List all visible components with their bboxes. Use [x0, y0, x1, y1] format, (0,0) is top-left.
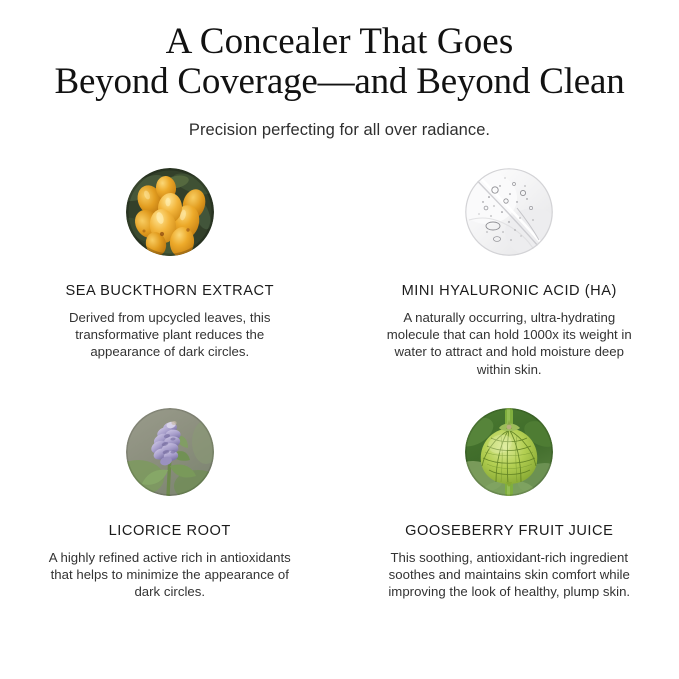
ingredient-description: This soothing, antioxidant-rich ingredie… — [383, 540, 635, 601]
ingredient-benefits-page: A Concealer That Goes Beyond Coverage—an… — [0, 0, 679, 679]
page-subtitle: Precision perfecting for all over radian… — [0, 102, 679, 140]
ingredient-thumbnail-wrap — [340, 408, 679, 504]
page-title-line-2: Beyond Coverage—and Beyond Clean — [0, 62, 679, 102]
ingredient-description: A naturally occurring, ultra-hydrating m… — [383, 300, 635, 378]
ingredient-card-gooseberry-fruit-juice: GOOSEBERRY FRUIT JUICE This soothing, an… — [340, 408, 679, 601]
page-title: A Concealer That Goes Beyond Coverage—an… — [0, 22, 679, 102]
ingredient-grid: SEA BUCKTHORN EXTRACT Derived from upcyc… — [0, 168, 679, 601]
ingredient-card-sea-buckthorn-extract: SEA BUCKTHORN EXTRACT Derived from upcyc… — [0, 168, 340, 408]
ingredient-title: SEA BUCKTHORN EXTRACT — [0, 264, 340, 300]
ingredient-title: LICORICE ROOT — [0, 504, 340, 540]
licorice-root-flower-image — [126, 408, 214, 496]
ingredient-thumbnail-wrap — [0, 168, 340, 264]
ingredient-thumbnail-wrap — [0, 408, 340, 504]
gooseberry-fruit-image — [465, 408, 553, 496]
ingredient-row: SEA BUCKTHORN EXTRACT Derived from upcyc… — [0, 168, 679, 408]
ingredient-card-mini-hyaluronic-acid: MINI HYALURONIC ACID (HA) A naturally oc… — [340, 168, 679, 408]
ingredient-row: LICORICE ROOT A highly refined active ri… — [0, 408, 679, 601]
ingredient-title: GOOSEBERRY FRUIT JUICE — [340, 504, 679, 540]
ingredient-description: A highly refined active rich in antioxid… — [46, 540, 294, 601]
hyaluronic-acid-gel-image — [465, 168, 553, 256]
sea-buckthorn-berries-image — [126, 168, 214, 256]
ingredient-thumbnail-wrap — [340, 168, 679, 264]
ingredient-title: MINI HYALURONIC ACID (HA) — [340, 264, 679, 300]
page-header: A Concealer That Goes Beyond Coverage—an… — [0, 22, 679, 140]
ingredient-card-licorice-root: LICORICE ROOT A highly refined active ri… — [0, 408, 340, 601]
ingredient-description: Derived from upcycled leaves, this trans… — [46, 300, 294, 361]
page-title-line-1: A Concealer That Goes — [0, 22, 679, 62]
